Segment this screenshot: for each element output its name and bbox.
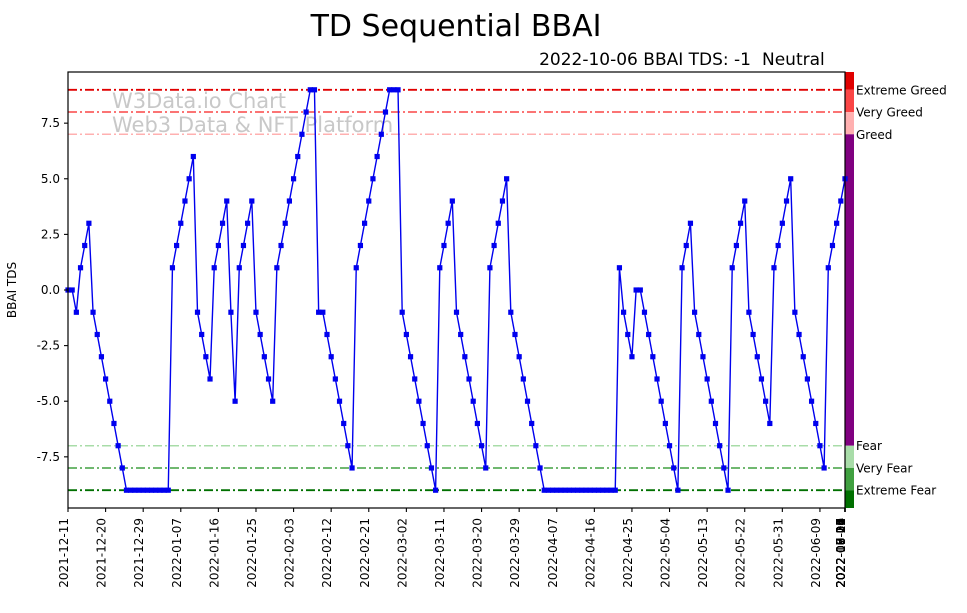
data-point (496, 221, 501, 226)
y-axis-label: BBAI TDS (5, 262, 19, 318)
y-tick-label: 7.5 (41, 116, 60, 130)
data-point (663, 421, 668, 426)
data-point (751, 332, 756, 337)
x-tick-label: 2022-01-25 (245, 518, 259, 588)
x-tick-label: 2021-12-29 (132, 518, 146, 588)
data-point (667, 443, 672, 448)
data-point (696, 332, 701, 337)
data-point (412, 376, 417, 381)
x-tick-label: 2021-12-11 (57, 518, 71, 588)
data-point (771, 265, 776, 270)
data-point (738, 221, 743, 226)
data-point (304, 109, 309, 114)
data-point (86, 221, 91, 226)
data-point (813, 421, 818, 426)
data-point (671, 465, 676, 470)
data-point (700, 354, 705, 359)
data-point (216, 243, 221, 248)
x-tick-label: 2022-10-04 (834, 518, 848, 588)
data-point (512, 332, 517, 337)
data-point (621, 310, 626, 315)
data-point (450, 198, 455, 203)
data-point (278, 243, 283, 248)
data-point (692, 310, 697, 315)
series-markers (65, 87, 847, 493)
data-point (471, 399, 476, 404)
data-point (228, 310, 233, 315)
data-point (517, 354, 522, 359)
data-point (174, 243, 179, 248)
data-point (613, 488, 618, 493)
data-point (78, 265, 83, 270)
x-tick-label: 2022-05-31 (771, 518, 785, 588)
data-point (830, 243, 835, 248)
x-tick-label: 2022-05-13 (696, 518, 710, 588)
data-point (274, 265, 279, 270)
watermark-line-1: W3Data.io Chart (112, 89, 286, 113)
data-point (270, 399, 275, 404)
x-tick-label: 2022-01-07 (170, 518, 184, 588)
data-point (224, 198, 229, 203)
zone-label-greed: Greed (856, 128, 892, 142)
data-point (629, 354, 634, 359)
x-tick-label: 2022-02-21 (358, 518, 372, 588)
x-tick-label: 2022-06-09 (809, 518, 823, 588)
data-point (533, 443, 538, 448)
x-tick-label: 2022-04-07 (546, 518, 560, 588)
y-tick-label: -2.5 (37, 339, 60, 353)
colorbar-segment-2 (845, 112, 854, 134)
data-point (838, 198, 843, 203)
data-point (796, 332, 801, 337)
data-point (241, 243, 246, 248)
data-point (487, 265, 492, 270)
data-point (362, 221, 367, 226)
data-point (354, 265, 359, 270)
data-point (120, 465, 125, 470)
y-tick-label: -7.5 (37, 450, 60, 464)
x-tick-label: 2022-04-25 (621, 518, 635, 588)
x-tick-label: 2022-03-02 (395, 518, 409, 588)
data-point (207, 376, 212, 381)
watermark-line-2: Web3 Data & NFT Platform (112, 113, 393, 137)
data-point (809, 399, 814, 404)
x-tick-label: 2022-03-20 (471, 518, 485, 588)
data-point (90, 310, 95, 315)
data-point (441, 243, 446, 248)
data-point (805, 376, 810, 381)
data-point (199, 332, 204, 337)
data-point (679, 265, 684, 270)
data-point (429, 465, 434, 470)
data-point (245, 221, 250, 226)
data-point (111, 421, 116, 426)
data-point (345, 443, 350, 448)
data-point (233, 399, 238, 404)
data-point (742, 198, 747, 203)
data-point (187, 176, 192, 181)
data-point (295, 154, 300, 159)
data-point (642, 310, 647, 315)
data-point (237, 265, 242, 270)
data-point (717, 443, 722, 448)
data-point (437, 265, 442, 270)
data-point (826, 265, 831, 270)
data-point (483, 465, 488, 470)
data-point (721, 465, 726, 470)
zone-label-very-greed: Very Greed (856, 106, 923, 120)
data-point (358, 243, 363, 248)
data-point (617, 265, 622, 270)
colorbar-segment-0 (845, 72, 854, 90)
data-point (801, 354, 806, 359)
data-point (454, 310, 459, 315)
colorbar-segment-4 (845, 446, 854, 468)
data-point (746, 310, 751, 315)
x-tick-label: 2022-05-04 (659, 518, 673, 588)
data-point (258, 332, 263, 337)
data-point (508, 310, 513, 315)
colorbar-segment-1 (845, 90, 854, 112)
y-tick-label: 2.5 (41, 227, 60, 241)
data-point (74, 310, 79, 315)
data-point (529, 421, 534, 426)
data-point (82, 243, 87, 248)
data-point (433, 488, 438, 493)
zone-label-very-fear: Very Fear (856, 461, 912, 475)
data-point (705, 376, 710, 381)
data-point (404, 332, 409, 337)
y-tick-label: 0.0 (41, 283, 60, 297)
data-point (312, 87, 317, 92)
data-point (734, 243, 739, 248)
data-point (299, 132, 304, 137)
data-point (834, 221, 839, 226)
data-point (253, 310, 258, 315)
data-point (291, 176, 296, 181)
data-point (375, 154, 380, 159)
data-point (107, 399, 112, 404)
data-point (688, 221, 693, 226)
data-point (182, 198, 187, 203)
data-point (780, 221, 785, 226)
data-point (103, 376, 108, 381)
x-tick-label: 2022-05-22 (734, 518, 748, 588)
zone-label-fear: Fear (856, 439, 882, 453)
data-point (370, 176, 375, 181)
data-point (500, 198, 505, 203)
data-point (249, 198, 254, 203)
data-point (650, 354, 655, 359)
subtitle-reading: 2022-10-06 BBAI TDS: -1 (539, 50, 751, 70)
data-point (178, 221, 183, 226)
data-point (446, 221, 451, 226)
x-tick-label: 2022-04-16 (583, 518, 597, 588)
data-point (283, 221, 288, 226)
y-tick-label: 5.0 (41, 172, 60, 186)
data-point (638, 287, 643, 292)
data-point (170, 265, 175, 270)
data-point (70, 287, 75, 292)
data-point (287, 198, 292, 203)
data-point (379, 132, 384, 137)
data-point (755, 354, 760, 359)
data-point (525, 399, 530, 404)
data-point (425, 443, 430, 448)
x-tick-label: 2022-01-16 (207, 518, 221, 588)
data-point (646, 332, 651, 337)
data-point (788, 176, 793, 181)
data-point (195, 310, 200, 315)
data-point (212, 265, 217, 270)
data-point (709, 399, 714, 404)
data-point (203, 354, 208, 359)
data-point (537, 465, 542, 470)
zone-label-extreme-fear: Extreme Fear (856, 484, 936, 498)
data-point (220, 221, 225, 226)
data-point (767, 421, 772, 426)
data-point (725, 488, 730, 493)
data-point (349, 465, 354, 470)
data-point (521, 376, 526, 381)
data-point (684, 243, 689, 248)
data-point (730, 265, 735, 270)
data-point (99, 354, 104, 359)
data-point (759, 376, 764, 381)
data-point (329, 354, 334, 359)
data-point (675, 488, 680, 493)
data-point (492, 243, 497, 248)
series-line-bbai-tds (68, 90, 845, 490)
data-point (95, 332, 100, 337)
status-badge: Neutral (762, 50, 825, 70)
data-point (166, 488, 171, 493)
data-point (822, 465, 827, 470)
data-point (383, 109, 388, 114)
data-point (713, 421, 718, 426)
data-point (625, 332, 630, 337)
data-point (763, 399, 768, 404)
data-point (324, 332, 329, 337)
x-tick-label: 2022-02-12 (320, 518, 334, 588)
x-tick-label: 2022-03-29 (508, 518, 522, 588)
colorbar-segment-6 (845, 490, 854, 508)
y-tick-label: -5.0 (37, 394, 60, 408)
data-point (420, 421, 425, 426)
data-point (462, 354, 467, 359)
data-point (458, 332, 463, 337)
zone-label-extreme-greed: Extreme Greed (856, 83, 947, 97)
x-tick-label: 2021-12-20 (95, 518, 109, 588)
data-point (466, 376, 471, 381)
chart-container: TD Sequential BBAI2022-10-06 BBAI TDS: -… (0, 0, 967, 613)
data-point (792, 310, 797, 315)
data-point (416, 399, 421, 404)
colorbar-segment-5 (845, 468, 854, 490)
data-point (320, 310, 325, 315)
data-point (333, 376, 338, 381)
data-point (341, 421, 346, 426)
data-point (817, 443, 822, 448)
data-point (337, 399, 342, 404)
data-point (784, 198, 789, 203)
x-tick-label: 2022-03-11 (433, 518, 447, 588)
data-point (475, 421, 480, 426)
data-point (116, 443, 121, 448)
data-point (266, 376, 271, 381)
data-point (408, 354, 413, 359)
td-sequential-chart: TD Sequential BBAI2022-10-06 BBAI TDS: -… (0, 0, 967, 613)
page-title: TD Sequential BBAI (310, 9, 602, 44)
data-point (659, 399, 664, 404)
data-point (479, 443, 484, 448)
data-point (776, 243, 781, 248)
data-point (504, 176, 509, 181)
data-point (400, 310, 405, 315)
data-point (395, 87, 400, 92)
data-point (366, 198, 371, 203)
data-point (191, 154, 196, 159)
x-tick-label: 2022-02-03 (283, 518, 297, 588)
data-point (262, 354, 267, 359)
data-point (654, 376, 659, 381)
